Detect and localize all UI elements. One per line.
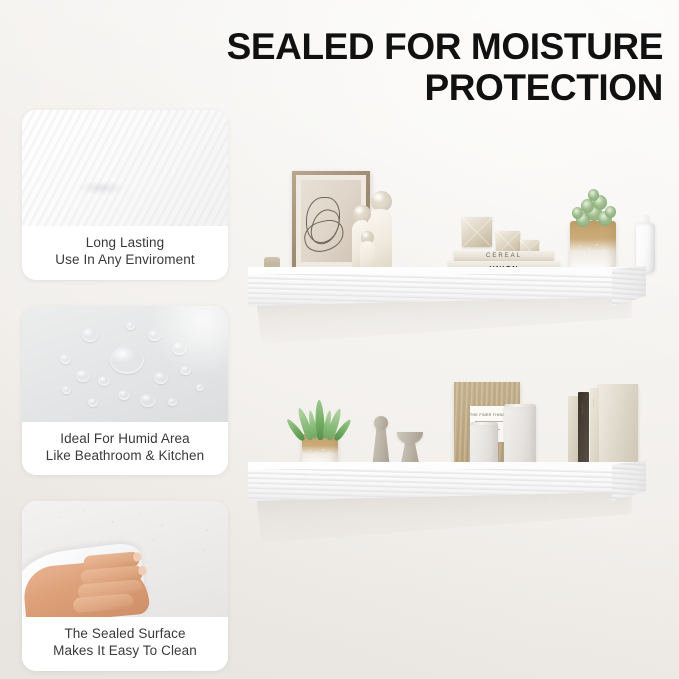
fingernail: [138, 566, 147, 576]
hand-wiping-photo: [22, 501, 228, 617]
succulent-rosette: [588, 189, 599, 201]
pot-speckle-texture: [570, 221, 616, 273]
water-drop-icon: [148, 330, 161, 341]
book-spine-text: ······: [592, 398, 596, 407]
upper-shelf: CEREAL UNION: [248, 160, 668, 330]
white-bottle: [634, 215, 658, 273]
potted-plant: [292, 386, 348, 468]
book-spine: ······: [590, 388, 599, 468]
page-title: SEALED FOR MOISTURE PROTECTION: [163, 26, 663, 109]
water-drop-icon: [180, 366, 191, 375]
book-stack-lower: [598, 384, 638, 468]
succulent-rosette: [605, 206, 616, 218]
caption-line-1: The Sealed Surface: [28, 625, 222, 642]
water-drop-icon: [98, 376, 110, 386]
succulent-rosette: [572, 207, 583, 219]
water-drop-icon: [62, 386, 71, 394]
water-drop-icon: [76, 370, 90, 382]
fingernail: [133, 552, 142, 562]
headline-line-1: SEALED FOR MOISTURE: [163, 26, 663, 67]
caption-line-2: Use In Any Enviroment: [28, 251, 222, 268]
feature-card-list: Long Lasting Use In Any Enviroment: [22, 110, 228, 679]
water-drop-icon: [172, 342, 187, 355]
caption-line-2: Like Beathroom & Kitchen: [28, 447, 222, 464]
water-drop-icon: [60, 354, 71, 364]
wooden-figure-head: [374, 416, 388, 430]
upper-shelf-right-end: [612, 266, 646, 306]
book-spine: ·······: [578, 392, 589, 468]
lower-shelf-decor: THE FINER THINGS ······· ······: [248, 355, 668, 468]
geometric-object: [462, 217, 492, 247]
feature-card-humid-area: Ideal For Humid Area Like Beathroom & Ki…: [22, 306, 228, 476]
cylinder-vase-large: [504, 404, 536, 468]
caption-line-1: Ideal For Humid Area: [28, 430, 222, 447]
water-drop-icon: [126, 322, 135, 330]
water-drop-icon: [110, 346, 144, 374]
lower-shelf-right-end: [612, 461, 646, 501]
book-spine-label: CEREAL: [486, 253, 522, 259]
caption-line-2: Makes It Easy To Clean: [28, 642, 222, 659]
feature-card-easy-clean: The Sealed Surface Makes It Easy To Clea…: [22, 501, 228, 671]
plant-pot: [570, 221, 616, 273]
water-drop-icon: [140, 394, 156, 407]
upper-shelf-decor: CEREAL UNION: [248, 160, 668, 273]
water-droplets-photo: [22, 306, 228, 422]
water-drop-icon: [154, 372, 168, 384]
feature-card-caption: Long Lasting Use In Any Enviroment: [22, 226, 228, 280]
feature-card-caption: The Sealed Surface Makes It Easy To Clea…: [22, 617, 228, 671]
product-image-scene: SEALED FOR MOISTURE PROTECTION Long Last…: [0, 0, 679, 679]
water-drop-icon: [196, 384, 204, 391]
water-drop-icon: [88, 398, 98, 407]
feature-card-long-lasting: Long Lasting Use In Any Enviroment: [22, 110, 228, 280]
book-spine: [568, 396, 578, 468]
art-print-title: THE FINER THINGS: [470, 413, 508, 417]
water-drop-icon: [118, 390, 130, 400]
lower-shelf: THE FINER THINGS ······· ······: [248, 355, 668, 525]
feature-card-caption: Ideal For Humid Area Like Beathroom & Ki…: [22, 422, 228, 476]
water-drop-icon: [82, 328, 98, 342]
book-spine-text: ·······: [581, 404, 585, 414]
water-drop-icon: [168, 398, 177, 406]
succulent-pot: [564, 173, 622, 273]
caption-line-1: Long Lasting: [28, 234, 222, 251]
wooden-figure-bowl: [397, 432, 423, 444]
screw-shadow: [66, 180, 136, 196]
family-figurine: [344, 191, 396, 273]
screw-photo: [22, 110, 228, 226]
wooden-figures: [368, 410, 430, 468]
bottle-body: [636, 223, 655, 273]
headline-line-2: PROTECTION: [163, 67, 663, 108]
